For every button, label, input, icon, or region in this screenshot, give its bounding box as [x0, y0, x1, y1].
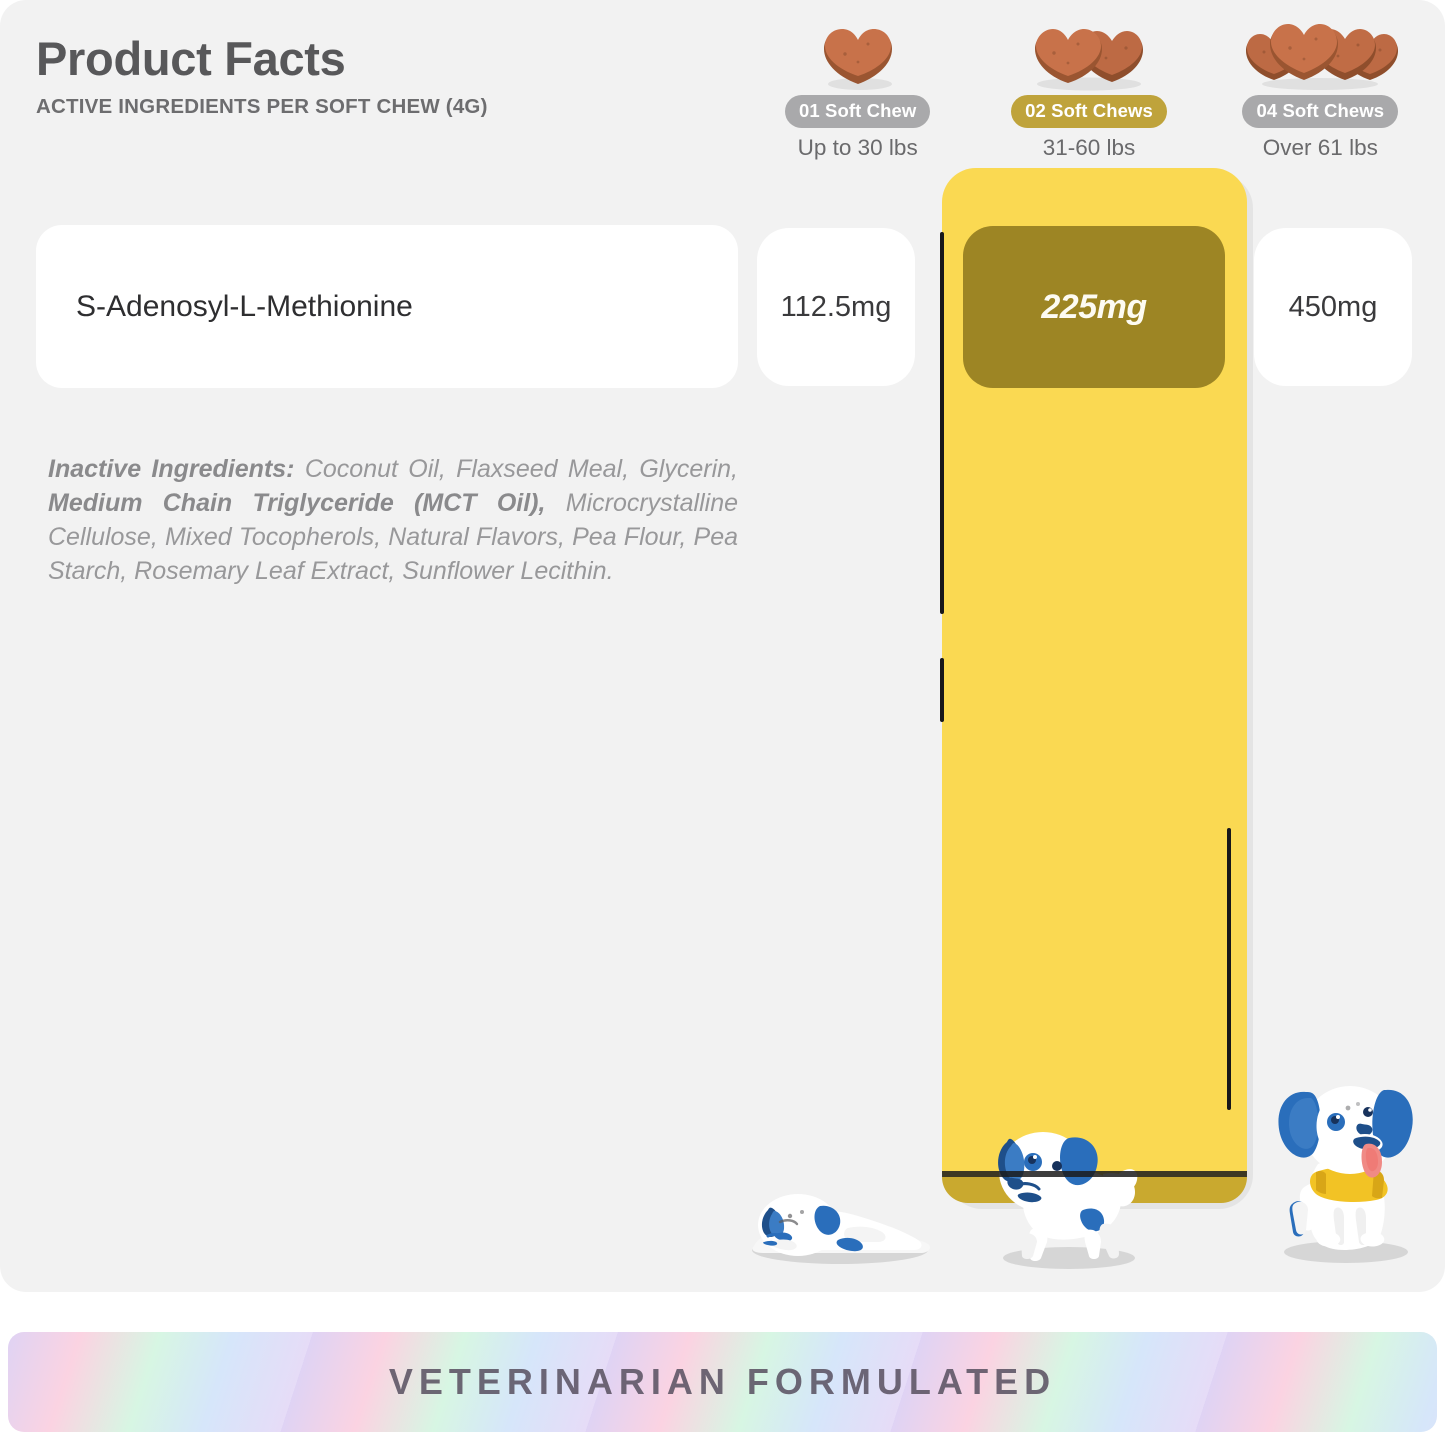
dose-value-card-2: 225mg	[963, 226, 1225, 388]
inactive-ingredients-label: Inactive Ingredients:	[48, 455, 295, 483]
banner-text: VETERINARIAN FORMULATED	[389, 1361, 1056, 1403]
two-soft-chews-icon	[1014, 14, 1164, 92]
veterinarian-formulated-banner: VETERINARIAN FORMULATED	[8, 1332, 1437, 1432]
page-subtitle: ACTIVE INGREDIENTS PER SOFT CHEW (4G)	[36, 95, 736, 119]
inactive-ingredients-mct: Medium Chain Triglyceride (MCT Oil),	[48, 489, 545, 517]
product-facts-graphic: Product Facts ACTIVE INGREDIENTS PER SOF…	[0, 0, 1445, 1438]
dose-value-card-3: 450mg	[1254, 228, 1412, 386]
weight-range-2: 31-60 lbs	[1043, 135, 1136, 161]
header: Product Facts ACTIVE INGREDIENTS PER SOF…	[36, 34, 736, 119]
dose-badge-3: 04 Soft Chews	[1242, 95, 1398, 128]
dose-value-1: 112.5mg	[781, 291, 892, 324]
dose-badge-1: 01 Soft Chew	[785, 95, 930, 128]
highlight-column-right-edge	[1227, 828, 1231, 1110]
active-ingredient-name: S-Adenosyl-L-Methionine	[76, 290, 413, 324]
one-soft-chew-icon	[810, 14, 906, 92]
inactive-ingredients-text: Inactive Ingredients: Coconut Oil, Flaxs…	[48, 452, 738, 588]
inactive-ingredients-part-1: Coconut Oil, Flaxseed Meal, Glycerin,	[295, 455, 738, 483]
dose-column-header-2: 02 Soft Chews 31-60 lbs	[973, 14, 1204, 164]
dose-value-2: 225mg	[1041, 288, 1146, 327]
weight-range-1: Up to 30 lbs	[798, 135, 918, 161]
active-ingredient-row: S-Adenosyl-L-Methionine	[36, 225, 738, 388]
highlight-column-left-edge-lower	[940, 658, 944, 722]
walking-dog-illustration	[985, 1112, 1153, 1277]
dose-column-headers: 01 Soft Chew Up to 30 lbs	[742, 14, 1436, 164]
dose-column-header-1: 01 Soft Chew Up to 30 lbs	[742, 14, 973, 164]
sitting-dog-illustration	[1258, 1068, 1428, 1273]
four-soft-chews-icon	[1230, 14, 1410, 92]
weight-range-3: Over 61 lbs	[1263, 135, 1378, 161]
sleeping-dog-illustration	[742, 1158, 938, 1273]
page-title: Product Facts	[36, 34, 736, 85]
product-facts-panel: Product Facts ACTIVE INGREDIENTS PER SOF…	[0, 0, 1445, 1292]
dose-column-header-3: 04 Soft Chews Over 61 lbs	[1205, 14, 1436, 164]
dose-value-3: 450mg	[1289, 291, 1378, 324]
dose-value-card-1: 112.5mg	[757, 228, 915, 386]
highlight-column-left-edge-upper	[940, 232, 944, 614]
dose-badge-2: 02 Soft Chews	[1011, 95, 1167, 128]
